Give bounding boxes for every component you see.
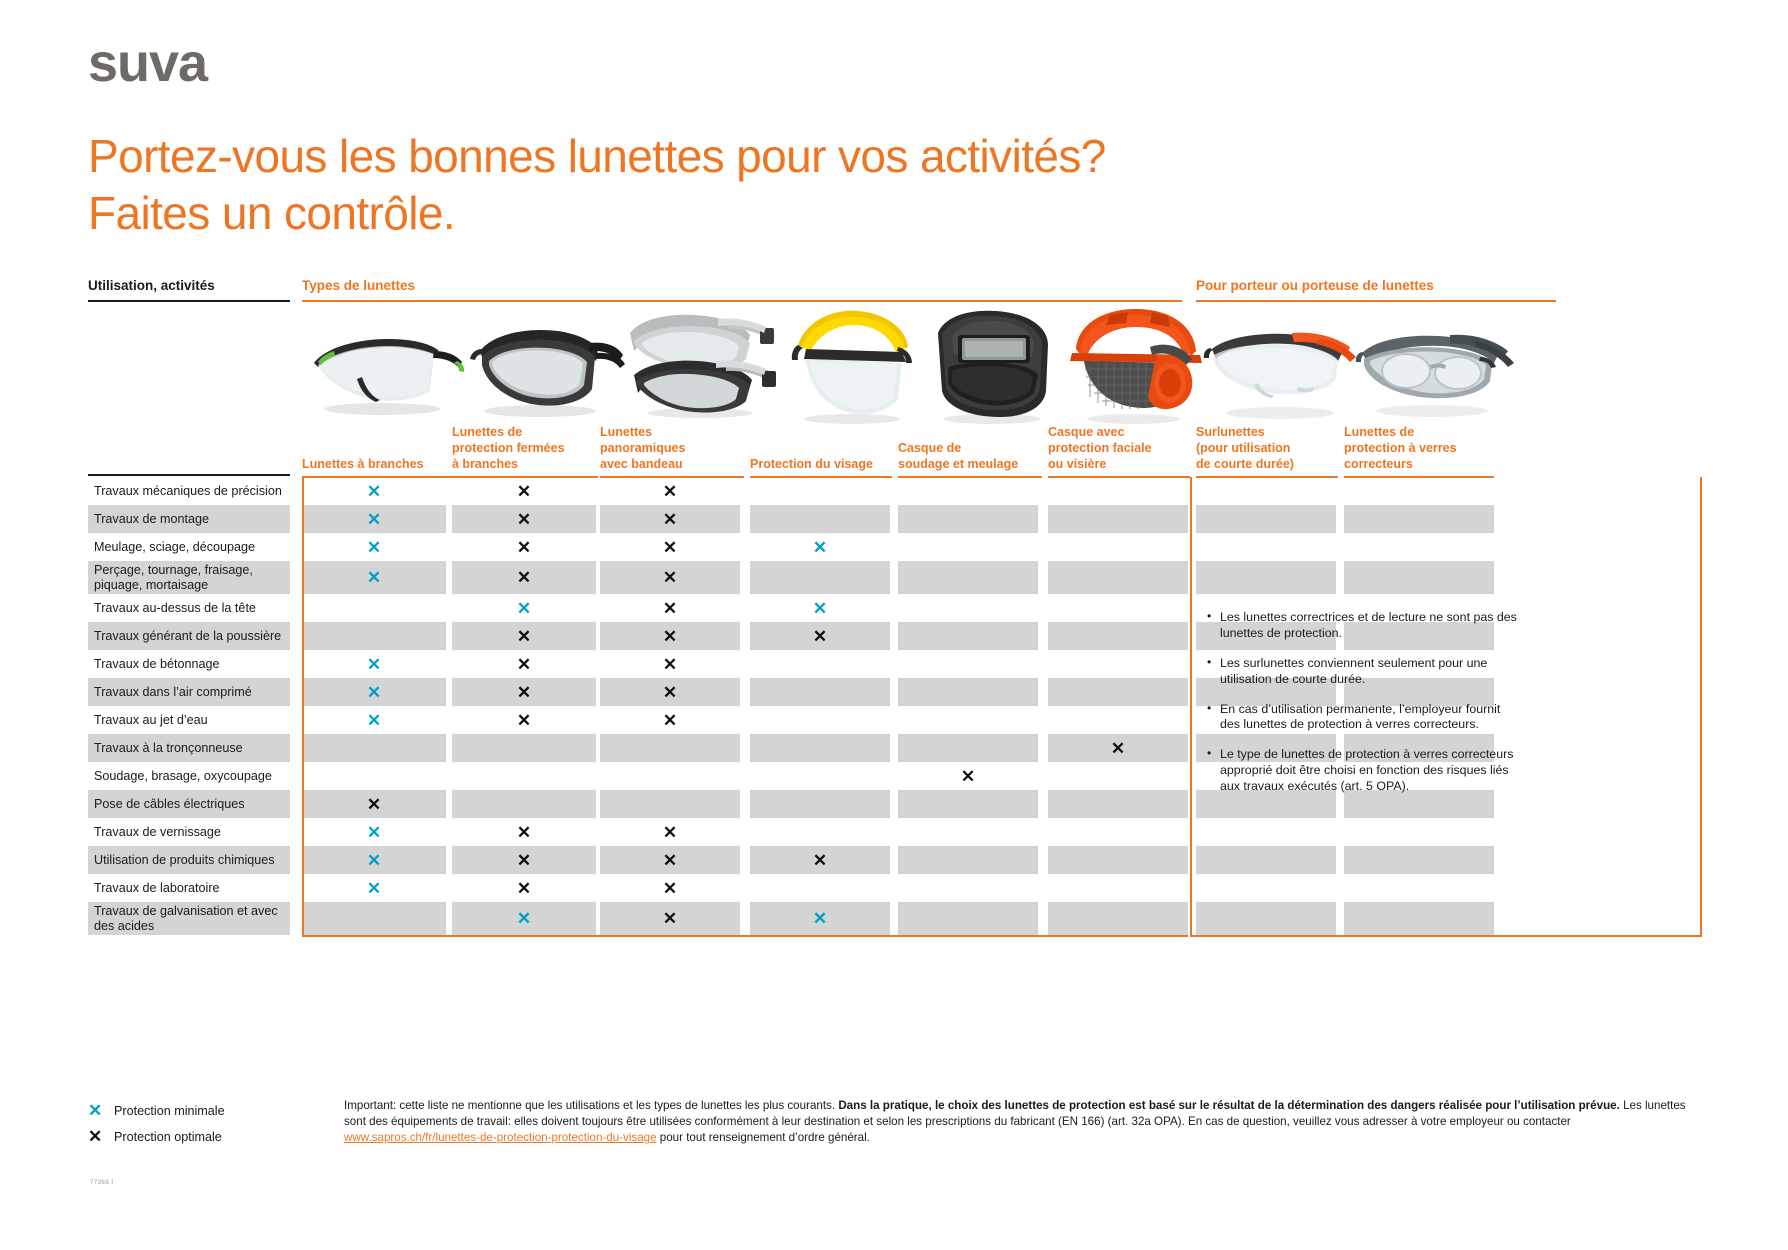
empty-cell bbox=[750, 818, 890, 846]
empty-cell bbox=[898, 533, 1038, 561]
empty-cell bbox=[1048, 650, 1188, 678]
mark-cell-optimal: ✕ bbox=[750, 622, 890, 650]
mark-cell-optimal: ✕ bbox=[452, 846, 596, 874]
empty-cell bbox=[1048, 706, 1188, 734]
mark-cell-optimal: ✕ bbox=[898, 762, 1038, 790]
minimal-mark-icon: ✕ bbox=[367, 824, 381, 841]
empty-cell bbox=[898, 846, 1038, 874]
mark-cell-optimal: ✕ bbox=[600, 561, 740, 594]
welding-helmet-icon bbox=[914, 305, 1074, 427]
optimal-mark-icon: ✕ bbox=[88, 1127, 114, 1147]
mark-cell-minimal: ✕ bbox=[302, 874, 446, 902]
empty-cell bbox=[452, 790, 596, 818]
row-label: Travaux au-dessus de la tête bbox=[88, 594, 290, 622]
legend-item-minimal: ✕ Protection minimale bbox=[88, 1098, 225, 1124]
empty-cell bbox=[1196, 505, 1336, 533]
column-header-visiere: Casque avecprotection facialeou visière bbox=[1048, 424, 1190, 478]
optimal-mark-icon: ✕ bbox=[663, 880, 677, 897]
note-text: Les surlunettes conviennent seulement po… bbox=[1220, 656, 1487, 686]
bullet-icon: • bbox=[1207, 701, 1211, 716]
mark-cell-optimal: ✕ bbox=[600, 902, 740, 935]
matrix-left-border bbox=[302, 477, 304, 935]
row-label: Travaux à la tronçonneuse bbox=[88, 734, 290, 762]
section-rule-wearer bbox=[1196, 300, 1556, 302]
empty-cell bbox=[1048, 477, 1188, 505]
mark-cell-minimal: ✕ bbox=[302, 533, 446, 561]
row-label: Travaux dans l’air comprimé bbox=[88, 678, 290, 706]
row-label: Travaux de montage bbox=[88, 505, 290, 533]
minimal-mark-icon: ✕ bbox=[367, 539, 381, 556]
mark-cell-minimal: ✕ bbox=[302, 846, 446, 874]
optimal-mark-icon: ✕ bbox=[1111, 740, 1125, 757]
empty-cell bbox=[898, 594, 1038, 622]
document-id: 77369.f bbox=[90, 1180, 114, 1186]
optimal-mark-icon: ✕ bbox=[663, 852, 677, 869]
empty-cell bbox=[1344, 505, 1494, 533]
minimal-mark-icon: ✕ bbox=[367, 656, 381, 673]
mark-cell-optimal: ✕ bbox=[600, 594, 740, 622]
empty-cell bbox=[1048, 594, 1188, 622]
empty-cell bbox=[1048, 790, 1188, 818]
minimal-mark-icon: ✕ bbox=[367, 684, 381, 701]
mark-cell-optimal: ✕ bbox=[452, 874, 596, 902]
mark-cell-optimal: ✕ bbox=[452, 678, 596, 706]
minimal-mark-icon: ✕ bbox=[813, 600, 827, 617]
empty-cell bbox=[1196, 902, 1336, 935]
optimal-mark-icon: ✕ bbox=[367, 796, 381, 813]
mark-cell-optimal: ✕ bbox=[452, 533, 596, 561]
empty-cell bbox=[1048, 533, 1188, 561]
empty-cell bbox=[898, 706, 1038, 734]
row-label: Travaux mécaniques de précision bbox=[88, 477, 290, 505]
empty-cell bbox=[1196, 477, 1336, 505]
section-header-wearer-label: Pour porteur ou porteuse de lunettes bbox=[1196, 278, 1556, 300]
product-image-strip bbox=[302, 305, 1702, 427]
title-line-1: Portez-vous les bonnes lunettes pour vos… bbox=[88, 128, 1106, 185]
optimal-mark-icon: ✕ bbox=[517, 684, 531, 701]
bullet-icon: • bbox=[1207, 609, 1211, 624]
mark-cell-minimal: ✕ bbox=[750, 594, 890, 622]
empty-cell bbox=[1344, 561, 1494, 594]
mark-cell-minimal: ✕ bbox=[302, 818, 446, 846]
row-label: Travaux générant de la poussière bbox=[88, 622, 290, 650]
bullet-icon: • bbox=[1207, 746, 1211, 761]
table-bottom-rule bbox=[1190, 935, 1702, 937]
mark-cell-minimal: ✕ bbox=[302, 650, 446, 678]
empty-cell bbox=[302, 622, 446, 650]
empty-cell bbox=[750, 650, 890, 678]
column-header-fermees-label: Lunettes deprotection ferméesà branches bbox=[452, 424, 598, 472]
empty-cell bbox=[750, 678, 890, 706]
table-row: Meulage, sciage, découpage✕✕✕✕ bbox=[88, 533, 1701, 561]
section-header-types-label: Types de lunettes bbox=[302, 278, 1182, 300]
mark-cell-optimal: ✕ bbox=[600, 874, 740, 902]
minimal-mark-icon: ✕ bbox=[813, 910, 827, 927]
column-header-fermees: Lunettes deprotection ferméesà branches bbox=[452, 424, 598, 478]
optimal-mark-icon: ✕ bbox=[517, 483, 531, 500]
column-header-branches: Lunettes à branches bbox=[302, 430, 454, 478]
empty-cell bbox=[898, 790, 1038, 818]
mark-cell-optimal: ✕ bbox=[302, 790, 446, 818]
empty-cell bbox=[1048, 505, 1188, 533]
note-item: •Le type de lunettes de protection à ver… bbox=[1205, 747, 1523, 795]
mark-cell-optimal: ✕ bbox=[600, 533, 740, 561]
table-row: Travaux de montage✕✕✕ bbox=[88, 505, 1701, 533]
row-label: Travaux de bétonnage bbox=[88, 650, 290, 678]
empty-cell bbox=[1196, 874, 1336, 902]
empty-cell bbox=[1048, 678, 1188, 706]
empty-cell bbox=[1196, 561, 1336, 594]
empty-cell bbox=[898, 818, 1038, 846]
optimal-mark-icon: ✕ bbox=[663, 628, 677, 645]
minimal-mark-icon: ✕ bbox=[367, 852, 381, 869]
note-item: •Les lunettes correctrices et de lecture… bbox=[1205, 610, 1523, 642]
empty-cell bbox=[898, 902, 1038, 935]
mark-cell-minimal: ✕ bbox=[452, 594, 596, 622]
optimal-mark-icon: ✕ bbox=[663, 656, 677, 673]
legend-item-optimal: ✕ Protection optimale bbox=[88, 1124, 225, 1150]
optimal-mark-icon: ✕ bbox=[813, 628, 827, 645]
empty-cell bbox=[452, 762, 596, 790]
empty-cell bbox=[1196, 818, 1336, 846]
note-text: Les lunettes correctrices et de lecture … bbox=[1220, 610, 1517, 640]
sapros-link[interactable]: www.sapros.ch/fr/lunettes-de-protection-… bbox=[344, 1131, 657, 1144]
optimal-mark-icon: ✕ bbox=[961, 768, 975, 785]
suva-logo: suva bbox=[88, 36, 207, 90]
optimal-mark-icon: ✕ bbox=[517, 852, 531, 869]
mark-cell-minimal: ✕ bbox=[302, 505, 446, 533]
optimal-mark-icon: ✕ bbox=[517, 511, 531, 528]
column-header-visage: Protection du visage bbox=[750, 430, 892, 478]
optimal-mark-icon: ✕ bbox=[517, 824, 531, 841]
mark-cell-minimal: ✕ bbox=[750, 533, 890, 561]
mark-cell-optimal: ✕ bbox=[600, 477, 740, 505]
helmet-visor-icon bbox=[1054, 305, 1219, 427]
minimal-mark-icon: ✕ bbox=[517, 600, 531, 617]
section-header-wearer: Pour porteur ou porteuse de lunettes bbox=[1196, 278, 1556, 302]
bullet-icon: • bbox=[1207, 655, 1211, 670]
empty-cell bbox=[898, 622, 1038, 650]
column-header-soudage: Casque desoudage et meulage bbox=[898, 424, 1042, 478]
row-label: Travaux de laboratoire bbox=[88, 874, 290, 902]
face-shield-icon bbox=[772, 305, 932, 427]
optimal-mark-icon: ✕ bbox=[517, 712, 531, 729]
table-top-rule bbox=[88, 474, 290, 476]
wearer-panel-left-border bbox=[1190, 477, 1192, 935]
table-row: Travaux de laboratoire✕✕✕ bbox=[88, 874, 1701, 902]
column-header-panoramiques: Lunettespanoramiquesavec bandeau bbox=[600, 424, 744, 478]
empty-cell bbox=[750, 762, 890, 790]
empty-cell bbox=[452, 734, 596, 762]
note-item: •Les surlunettes conviennent seulement p… bbox=[1205, 656, 1523, 688]
empty-cell bbox=[1048, 902, 1188, 935]
table-row: Travaux de vernissage✕✕✕ bbox=[88, 818, 1701, 846]
empty-cell bbox=[1196, 533, 1336, 561]
poster-page: suva Portez-vous les bonnes lunettes pou… bbox=[0, 0, 1788, 1250]
section-rule-usage bbox=[88, 300, 290, 302]
empty-cell bbox=[898, 874, 1038, 902]
mark-cell-optimal: ✕ bbox=[452, 650, 596, 678]
empty-cell bbox=[750, 505, 890, 533]
table-bottom-rule-left bbox=[302, 935, 1188, 937]
mark-cell-optimal: ✕ bbox=[600, 650, 740, 678]
column-header-branches-label: Lunettes à branches bbox=[302, 456, 454, 472]
footer-lead: Important: cette liste ne mentionne que … bbox=[344, 1099, 835, 1112]
optimal-mark-icon: ✕ bbox=[663, 483, 677, 500]
mark-cell-optimal: ✕ bbox=[600, 678, 740, 706]
optimal-mark-icon: ✕ bbox=[517, 569, 531, 586]
empty-cell bbox=[600, 790, 740, 818]
footer-rest-2: pour tout renseignement d’ordre général. bbox=[660, 1131, 870, 1144]
minimal-mark-icon: ✕ bbox=[367, 483, 381, 500]
row-label: Travaux de galvanisation et avecdes acid… bbox=[88, 902, 290, 935]
mark-cell-optimal: ✕ bbox=[600, 846, 740, 874]
minimal-mark-icon: ✕ bbox=[367, 511, 381, 528]
column-header-surlunettes: Surlunettes(pour utilisationde courte du… bbox=[1196, 424, 1338, 478]
empty-cell bbox=[898, 678, 1038, 706]
page-title: Portez-vous les bonnes lunettes pour vos… bbox=[88, 128, 1106, 242]
mark-cell-optimal: ✕ bbox=[452, 561, 596, 594]
empty-cell bbox=[750, 706, 890, 734]
mark-cell-optimal: ✕ bbox=[452, 706, 596, 734]
row-label: Utilisation de produits chimiques bbox=[88, 846, 290, 874]
column-header-soudage-label: Casque desoudage et meulage bbox=[898, 440, 1042, 472]
prescription-glasses-icon bbox=[1350, 305, 1520, 427]
legend: ✕ Protection minimale ✕ Protection optim… bbox=[88, 1098, 225, 1150]
section-rule-types bbox=[302, 300, 1182, 302]
column-header-visiere-label: Casque avecprotection facialeou visière bbox=[1048, 424, 1190, 472]
optimal-mark-icon: ✕ bbox=[663, 684, 677, 701]
row-label: Pose de câbles électriques bbox=[88, 790, 290, 818]
minimal-mark-icon: ✕ bbox=[367, 712, 381, 729]
footer-note: Important: cette liste ne mentionne que … bbox=[344, 1098, 1704, 1146]
mark-cell-optimal: ✕ bbox=[452, 477, 596, 505]
empty-cell bbox=[898, 734, 1038, 762]
optimal-mark-icon: ✕ bbox=[813, 852, 827, 869]
optimal-mark-icon: ✕ bbox=[517, 539, 531, 556]
column-header-visage-label: Protection du visage bbox=[750, 456, 892, 472]
minimal-mark-icon: ✕ bbox=[367, 569, 381, 586]
section-header-types: Types de lunettes bbox=[302, 278, 1182, 302]
empty-cell bbox=[1344, 874, 1494, 902]
empty-cell bbox=[898, 561, 1038, 594]
minimal-mark-icon: ✕ bbox=[88, 1101, 114, 1121]
optimal-mark-icon: ✕ bbox=[663, 569, 677, 586]
mark-cell-minimal: ✕ bbox=[452, 902, 596, 935]
mark-cell-optimal: ✕ bbox=[1048, 734, 1188, 762]
note-text: En cas d’utilisation permanente, l’emplo… bbox=[1220, 702, 1500, 732]
minimal-mark-icon: ✕ bbox=[813, 539, 827, 556]
mark-cell-minimal: ✕ bbox=[302, 706, 446, 734]
legend-optimal-label: Protection optimale bbox=[114, 1130, 222, 1144]
row-label: Travaux au jet d’eau bbox=[88, 706, 290, 734]
empty-cell bbox=[302, 734, 446, 762]
notes-panel: •Les lunettes correctrices et de lecture… bbox=[1205, 610, 1523, 809]
table-row: Utilisation de produits chimiques✕✕✕✕ bbox=[88, 846, 1701, 874]
empty-cell bbox=[1344, 533, 1494, 561]
mark-cell-optimal: ✕ bbox=[750, 846, 890, 874]
empty-cell bbox=[1048, 818, 1188, 846]
table-row: Travaux mécaniques de précision✕✕✕ bbox=[88, 477, 1701, 505]
empty-cell bbox=[600, 762, 740, 790]
table-row: Perçage, tournage, fraisage,piquage, mor… bbox=[88, 561, 1701, 594]
row-label: Perçage, tournage, fraisage,piquage, mor… bbox=[88, 561, 290, 594]
mark-cell-optimal: ✕ bbox=[452, 505, 596, 533]
footer-bold: Dans la pratique, le choix des lunettes … bbox=[838, 1099, 1620, 1112]
mark-cell-minimal: ✕ bbox=[302, 561, 446, 594]
mark-cell-optimal: ✕ bbox=[452, 818, 596, 846]
empty-cell bbox=[302, 902, 446, 935]
empty-cell bbox=[1048, 846, 1188, 874]
empty-cell bbox=[750, 477, 890, 505]
optimal-mark-icon: ✕ bbox=[517, 628, 531, 645]
optimal-mark-icon: ✕ bbox=[517, 656, 531, 673]
column-header-correcteurs: Lunettes deprotection à verrescorrecteur… bbox=[1344, 424, 1494, 478]
empty-cell bbox=[1344, 902, 1494, 935]
optimal-mark-icon: ✕ bbox=[663, 511, 677, 528]
column-header-correcteurs-label: Lunettes deprotection à verrescorrecteur… bbox=[1344, 424, 1494, 472]
empty-cell bbox=[1048, 561, 1188, 594]
row-label: Soudage, brasage, oxycoupage bbox=[88, 762, 290, 790]
empty-cell bbox=[302, 762, 446, 790]
column-header-panoramiques-label: Lunettespanoramiquesavec bandeau bbox=[600, 424, 744, 472]
optimal-mark-icon: ✕ bbox=[663, 910, 677, 927]
mark-cell-minimal: ✕ bbox=[750, 902, 890, 935]
row-label: Meulage, sciage, découpage bbox=[88, 533, 290, 561]
empty-cell bbox=[750, 561, 890, 594]
empty-cell bbox=[600, 734, 740, 762]
overglasses-icon bbox=[1200, 305, 1365, 427]
safety-glasses-icon bbox=[302, 305, 467, 427]
column-header-surlunettes-label: Surlunettes(pour utilisationde courte du… bbox=[1196, 424, 1338, 472]
panoramic-goggles-icon bbox=[620, 305, 790, 427]
note-text: Le type de lunettes de protection à verr… bbox=[1220, 747, 1513, 793]
mark-cell-optimal: ✕ bbox=[600, 622, 740, 650]
section-header-usage: Utilisation, activités bbox=[88, 278, 290, 302]
empty-cell bbox=[750, 874, 890, 902]
optimal-mark-icon: ✕ bbox=[663, 824, 677, 841]
empty-cell bbox=[898, 505, 1038, 533]
empty-cell bbox=[1344, 818, 1494, 846]
empty-cell bbox=[1048, 622, 1188, 650]
empty-cell bbox=[898, 650, 1038, 678]
empty-cell bbox=[750, 790, 890, 818]
mark-cell-optimal: ✕ bbox=[600, 706, 740, 734]
table-row: Travaux de galvanisation et avecdes acid… bbox=[88, 902, 1701, 935]
closed-goggles-icon bbox=[462, 305, 627, 427]
optimal-mark-icon: ✕ bbox=[517, 880, 531, 897]
mark-cell-optimal: ✕ bbox=[452, 622, 596, 650]
empty-cell bbox=[1344, 477, 1494, 505]
optimal-mark-icon: ✕ bbox=[663, 539, 677, 556]
minimal-mark-icon: ✕ bbox=[517, 910, 531, 927]
empty-cell bbox=[898, 477, 1038, 505]
row-label: Travaux de vernissage bbox=[88, 818, 290, 846]
legend-minimal-label: Protection minimale bbox=[114, 1104, 225, 1118]
empty-cell bbox=[750, 734, 890, 762]
mark-cell-minimal: ✕ bbox=[302, 477, 446, 505]
empty-cell bbox=[1196, 846, 1336, 874]
note-item: •En cas d’utilisation permanente, l’empl… bbox=[1205, 702, 1523, 734]
minimal-mark-icon: ✕ bbox=[367, 880, 381, 897]
section-header-usage-label: Utilisation, activités bbox=[88, 278, 290, 300]
empty-cell bbox=[1048, 762, 1188, 790]
empty-cell bbox=[302, 594, 446, 622]
mark-cell-optimal: ✕ bbox=[600, 505, 740, 533]
title-line-2: Faites un contrôle. bbox=[88, 185, 1106, 242]
empty-cell bbox=[1048, 874, 1188, 902]
empty-cell bbox=[1344, 846, 1494, 874]
mark-cell-optimal: ✕ bbox=[600, 818, 740, 846]
mark-cell-minimal: ✕ bbox=[302, 678, 446, 706]
wearer-panel-right-border bbox=[1700, 477, 1702, 935]
optimal-mark-icon: ✕ bbox=[663, 600, 677, 617]
optimal-mark-icon: ✕ bbox=[663, 712, 677, 729]
